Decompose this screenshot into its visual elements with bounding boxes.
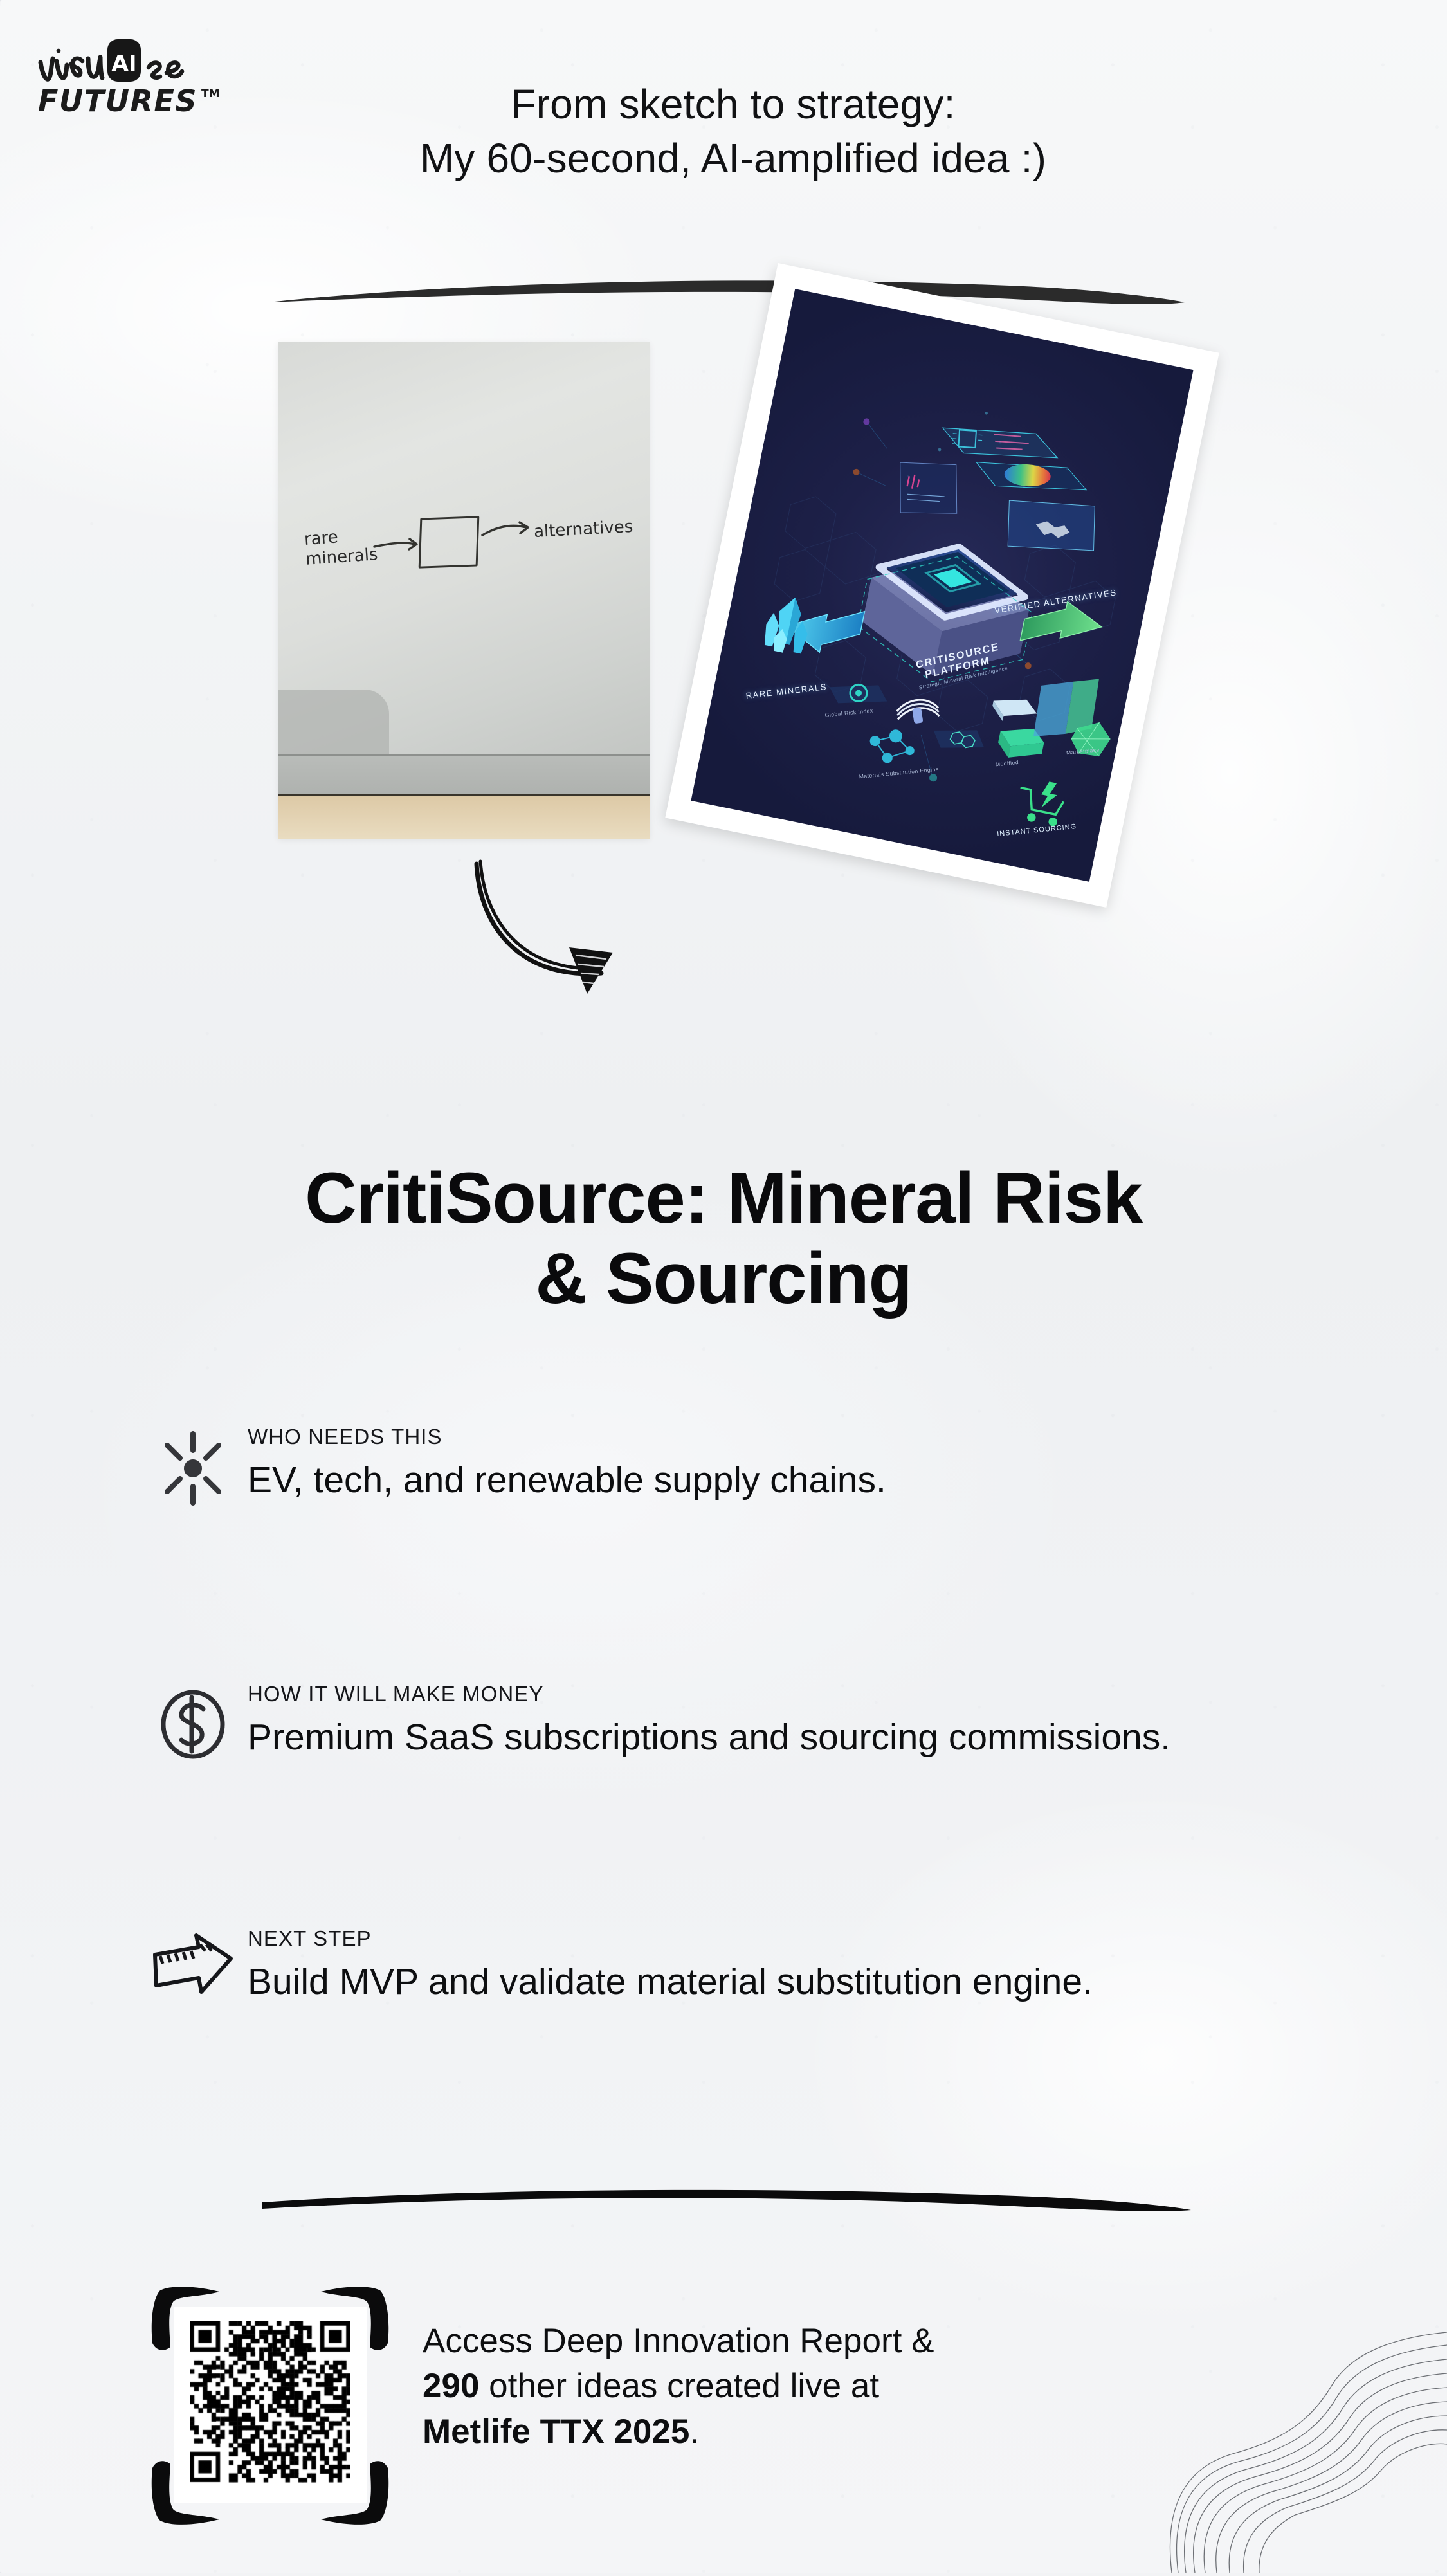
decorative-wave-lines (1138, 2316, 1447, 2573)
footer-text: Access Deep Innovation Report & 290 othe… (396, 2280, 934, 2454)
footer-line-2-rest: other ideas created live at (479, 2367, 879, 2405)
ai-generated-concept-poster: CRITISOURCE PLATFORM Strategic Mineral R… (665, 263, 1219, 908)
footer-line-3: Metlife TTX 2025. (423, 2409, 934, 2454)
page-title-line-1: CritiSource: Mineral Risk (305, 1158, 1142, 1238)
feature-body-0: EV, tech, and renewable supply chains. (248, 1457, 886, 1504)
footer-event-name: Metlife TTX 2025 (423, 2413, 689, 2451)
footer-line-1: Access Deep Innovation Report & (423, 2319, 934, 2364)
feature-body-1: Premium SaaS subscriptions and sourcing … (248, 1714, 1170, 1761)
brand-logo: AI FUTURES TM (35, 35, 267, 125)
footer-line-2: 290 other ideas created live at (423, 2364, 934, 2409)
qr-code[interactable] (145, 2280, 396, 2531)
curved-arrow-icon (473, 833, 743, 1045)
sketch-arrows (278, 342, 650, 839)
header-title-block: From sketch to strategy: My 60-second, A… (244, 77, 1222, 186)
feature-text-0: WHO NEEDS THIS EV, tech, and renewable s… (241, 1425, 886, 1504)
whiteboard-sketch-photo: rare minerals alternatives (278, 342, 650, 839)
header-line-1: From sketch to strategy: (244, 77, 1222, 131)
poster-artwork: CRITISOURCE PLATFORM Strategic Mineral R… (691, 289, 1193, 882)
feature-who-needs-this: WHO NEEDS THIS EV, tech, and renewable s… (145, 1425, 886, 1506)
svg-text:FUTURES: FUTURES (38, 84, 197, 118)
feature-body-2: Build MVP and validate material substitu… (248, 1959, 1093, 2005)
feature-text-1: HOW IT WILL MAKE MONEY Premium SaaS subs… (241, 1682, 1170, 1761)
feature-kicker-0: WHO NEEDS THIS (248, 1425, 886, 1449)
feature-text-2: NEXT STEP Build MVP and validate materia… (241, 1926, 1093, 2005)
footer-block: Access Deep Innovation Report & 290 othe… (145, 2280, 934, 2531)
ai-poster-container: CRITISOURCE PLATFORM Strategic Mineral R… (717, 302, 1251, 945)
holographic-panels (691, 289, 1193, 882)
header-line-2: My 60-second, AI-amplified idea :) (244, 131, 1222, 185)
footer-divider (257, 2180, 1196, 2225)
footer-idea-count: 290 (423, 2367, 479, 2405)
dollar-circle-icon (145, 1682, 241, 1763)
feature-next-step: NEXT STEP Build MVP and validate materia… (145, 1926, 1093, 2007)
sun-burst-icon (145, 1425, 241, 1506)
feature-kicker-2: NEXT STEP (248, 1926, 1093, 1951)
arrow-right-icon (145, 1926, 241, 2007)
feature-kicker-1: HOW IT WILL MAKE MONEY (248, 1682, 1170, 1706)
svg-text:TM: TM (201, 87, 220, 100)
feature-how-it-will-make-money: HOW IT WILL MAKE MONEY Premium SaaS subs… (145, 1682, 1170, 1763)
page-title: CritiSource: Mineral Risk & Sourcing (96, 1158, 1351, 1319)
footer-period: . (689, 2413, 699, 2451)
qr-code-modules (190, 2321, 350, 2487)
page-title-line-2: & Sourcing (535, 1238, 911, 1319)
svg-text:AI: AI (112, 51, 137, 77)
